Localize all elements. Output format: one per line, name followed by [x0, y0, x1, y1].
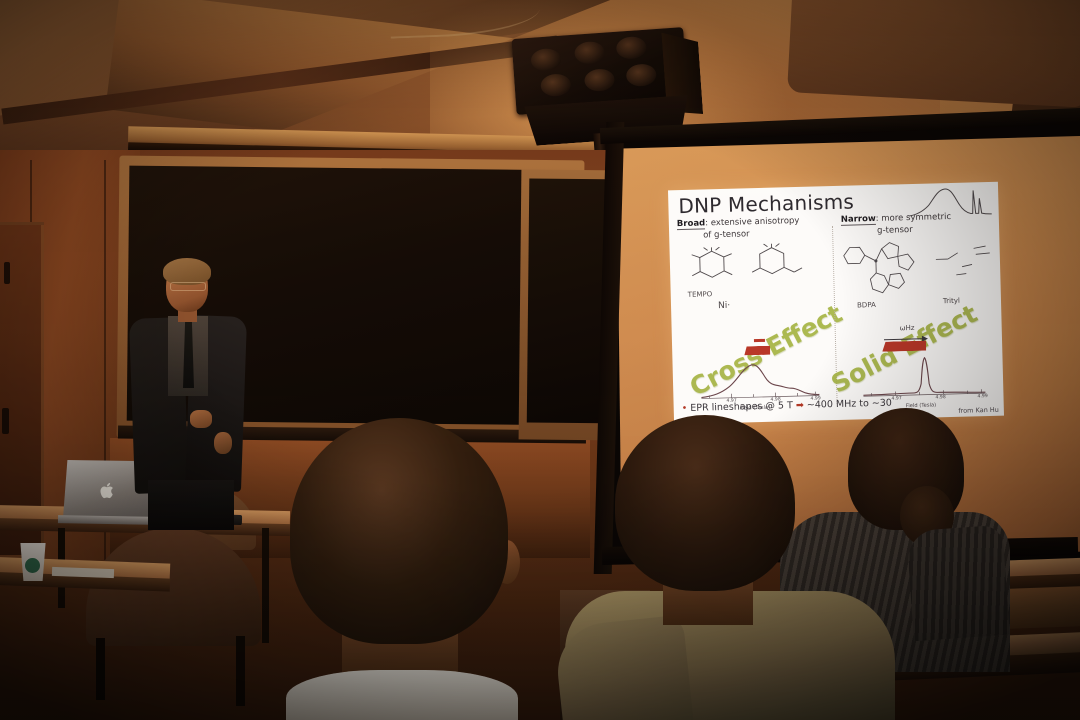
bullet-text-before: EPR lineshapes @ 5 T — [690, 400, 793, 414]
axis-tick: 4.98 — [935, 395, 945, 400]
narrow-text-line2: g-tensor — [841, 224, 913, 238]
presenter — [130, 262, 250, 524]
narrow-epr-lineshape — [860, 350, 987, 399]
presenter-hand — [214, 432, 232, 454]
cross-effect-energy-marker — [744, 346, 770, 356]
axis-tick: 4.99 — [977, 394, 987, 399]
broad-label: Broad — [677, 218, 706, 230]
audience-foreground-hair — [290, 418, 508, 644]
axis-tick: 4.97 — [891, 396, 901, 401]
projected-slide: DNP Mechanisms Broad: extensive anisotro… — [668, 182, 1004, 425]
molecule-label-ni: Ni· — [718, 301, 730, 311]
broad-text: : extensive anisotropy — [705, 216, 799, 228]
presenter-lower-body — [148, 480, 234, 530]
molecule-label-bdpa: BDPA — [857, 301, 876, 309]
starbucks-logo-icon — [25, 558, 40, 573]
narrow-text: : more symmetric — [876, 212, 952, 224]
trityl-molecule-structure — [931, 240, 994, 290]
slide-title: DNP Mechanisms — [678, 189, 854, 218]
tempo-molecule-structure — [684, 247, 741, 288]
broad-text-line2: of g-tensor — [677, 229, 750, 243]
tempo-derivative-structure — [745, 243, 806, 287]
molecule-label-tempo: TEMPO — [688, 290, 713, 299]
column-heading-narrow: Narrow: more symmetric g-tensor — [841, 210, 992, 239]
bullet-dot: • — [682, 403, 688, 414]
narrow-label: Narrow — [841, 214, 876, 226]
bdpa-molecule-structure — [841, 238, 929, 304]
door-handle — [4, 262, 10, 284]
ceiling-bulkhead — [787, 0, 1080, 108]
eyeglasses-icon — [170, 282, 206, 291]
chair-leg — [236, 636, 245, 706]
cross-effect-energy-marker-top — [754, 339, 765, 342]
column-heading-broad: Broad: extensive anisotropy of g-tensor — [677, 214, 828, 243]
audience-middle-hair — [615, 415, 795, 591]
audience-member-foreground — [272, 418, 530, 720]
table-leg — [262, 528, 269, 643]
broad-epr-lineshape — [698, 354, 821, 401]
audience-right-arm — [906, 525, 1009, 641]
presenter-hair — [163, 258, 211, 285]
presenter-hand — [190, 410, 212, 428]
energy-marker-label-omega: ωHz — [900, 324, 915, 332]
audience-member-middle — [575, 415, 905, 720]
apple-logo-icon — [100, 482, 115, 499]
door-handle — [2, 408, 9, 434]
solid-effect-energy-marker — [882, 341, 926, 352]
chair-leg — [96, 638, 105, 700]
lecture-hall-photo: DNP Mechanisms Broad: extensive anisotro… — [0, 0, 1080, 720]
audience-foreground-collar — [286, 670, 518, 720]
